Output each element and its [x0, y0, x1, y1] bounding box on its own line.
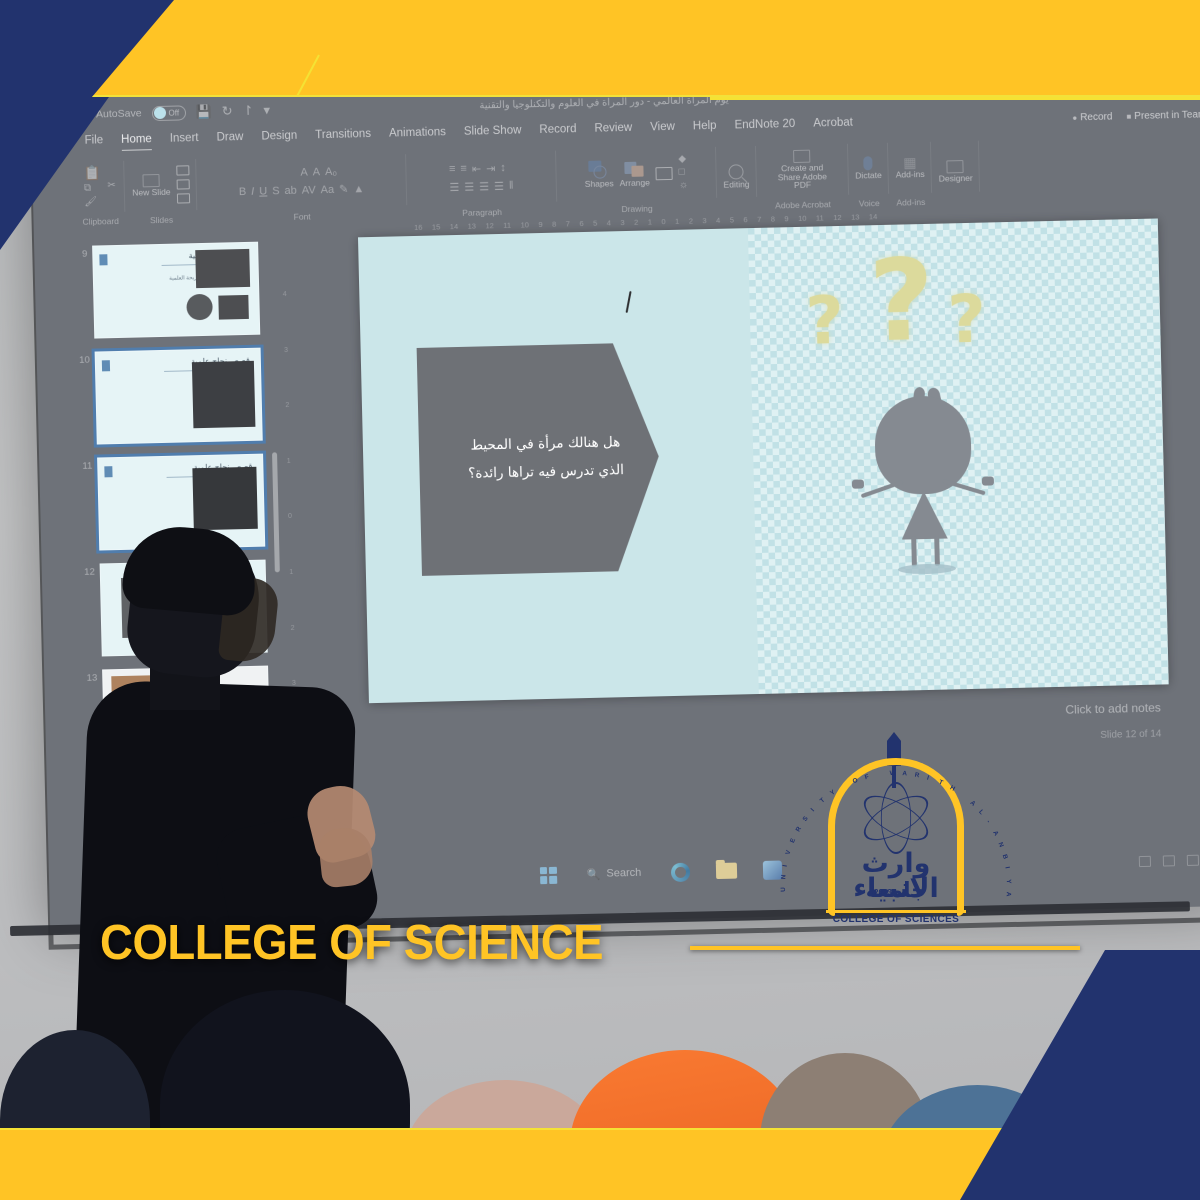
app-icon: [73, 108, 86, 121]
audience-row: [0, 970, 1200, 1200]
ruler-tick: 9: [538, 220, 542, 229]
clear-formatting-icon[interactable]: A₀: [325, 166, 337, 178]
audience-head: [160, 990, 410, 1200]
section-icon[interactable]: [177, 193, 190, 203]
tab-insert[interactable]: Insert: [161, 130, 208, 147]
group-label-adobe-acrobat: Adobe Acrobat: [775, 199, 831, 210]
shapes-label: Shapes: [585, 179, 614, 189]
tray-icon: [1163, 855, 1175, 866]
file-explorer-icon[interactable]: [716, 863, 737, 879]
thumbnail-image: [195, 249, 250, 288]
align-left-icon[interactable]: ☰: [449, 180, 459, 193]
new-slide-button[interactable]: New Slide: [132, 173, 171, 197]
start-icon[interactable]: [540, 866, 557, 883]
group-label-font: Font: [294, 211, 311, 221]
text-shadow-icon[interactable]: S: [272, 185, 280, 197]
undo-icon[interactable]: ↻: [222, 103, 233, 119]
ruler-tick: 15: [432, 222, 441, 231]
text-highlight-color-icon[interactable]: ✎: [339, 183, 349, 196]
ribbon-group-add-ins: ▦ Add-ins Add-ins: [888, 136, 933, 210]
ruler-tick: 16: [414, 223, 423, 232]
audience-head: [1040, 1055, 1200, 1200]
ruler-tick: 1: [675, 217, 679, 226]
adobe-pdf-icon: [793, 149, 810, 162]
ribbon-group-clipboard: 📋 ⧉ 🖌 ✂ Clipboard: [74, 155, 126, 229]
thumbnail-graphic: [186, 294, 213, 321]
ruler-tick: 14: [869, 212, 878, 221]
tab-draw[interactable]: Draw: [207, 129, 252, 146]
shape-fill-icon[interactable]: ◆: [678, 155, 687, 165]
arrange-label: Arrange: [620, 178, 650, 188]
paste-icon[interactable]: 📋: [84, 165, 102, 179]
format-painter-icon[interactable]: 🖌: [84, 197, 102, 207]
thumbnail-accent-bar: [104, 466, 112, 477]
designer-label: Designer: [939, 173, 973, 183]
confused-person-silhouette-icon: [841, 384, 1005, 574]
autosave-label: AutoSave: [96, 107, 142, 120]
add-ins-button[interactable]: ▦ Add-ins: [895, 155, 924, 180]
autosave-state: Off: [168, 108, 179, 117]
new-slide-label: New Slide: [132, 187, 170, 197]
ribbon-group-designer: Designer: [931, 135, 981, 209]
tab-animations[interactable]: Animations: [380, 124, 455, 142]
group-label-add-ins: Add-ins: [896, 197, 925, 208]
question-mark-right: ?: [947, 281, 987, 359]
search-icon: 🔍: [587, 867, 601, 880]
tray-icon: [1139, 855, 1151, 866]
font-size-increase-icon[interactable]: A: [300, 166, 308, 178]
ruler-tick: 13: [468, 222, 477, 231]
silhouette-arm-left: [860, 480, 903, 498]
save-status-chevron-icon[interactable]: ▾: [1026, 84, 1033, 100]
ruler-tick: 5: [730, 215, 734, 224]
ribbon-group-editing: Editing: [715, 140, 757, 214]
add-ins-label: Add-ins: [896, 170, 925, 180]
tab-endnote[interactable]: EndNote 20: [725, 116, 804, 134]
ruler-tick: 12: [833, 213, 842, 222]
question-mark-left: ?: [805, 282, 845, 360]
question-shape[interactable]: هل هنالك مرأة في المحيط الذي تدرس فيه تر…: [416, 342, 661, 576]
change-case-icon[interactable]: Aa: [320, 183, 334, 195]
redo-icon[interactable]: ↾: [242, 103, 253, 119]
teams-icon: ■: [1126, 112, 1131, 121]
thumbnail-row[interactable]: 10 قصص نجاح علمية نص فرعي تجريبي نص إضاف…: [77, 347, 275, 445]
thumbnail-number: 9: [74, 246, 89, 339]
reset-icon[interactable]: [176, 179, 189, 189]
arrange-icon: [624, 160, 644, 178]
thumbnail-image: [192, 361, 256, 428]
ruler-tick: 7: [566, 219, 570, 228]
copy-icon[interactable]: ⧉: [84, 183, 102, 193]
autosave-toggle[interactable]: Off: [151, 105, 185, 121]
status-bar: Slide 12 of 14: [370, 729, 1162, 759]
group-label-clipboard: Clipboard: [82, 216, 119, 227]
ruler-tick: 10: [520, 220, 529, 229]
tab-file[interactable]: File: [75, 132, 112, 149]
thumbnail-number: 10: [77, 352, 92, 445]
store-icon[interactable]: [763, 860, 782, 879]
question-mark-large: ?: [868, 236, 936, 367]
editing-button[interactable]: Editing: [723, 164, 750, 190]
room-photograph: AutoSave Off 💾 ↻ ↾ ▾ يوم المرأة العالمي …: [0, 0, 1200, 1200]
silhouette-hand-left: [851, 479, 863, 488]
tab-transitions[interactable]: Transitions: [306, 126, 380, 144]
columns-icon[interactable]: ‖: [509, 180, 514, 192]
ruler-tick: 8: [552, 220, 556, 229]
question-marks-graphic: ? ? ?: [798, 239, 1041, 395]
tab-design[interactable]: Design: [252, 128, 306, 145]
thumbnail-row[interactable]: 9 قصص نجاح علمية نص فرعي تجريبي للشريحة …: [74, 241, 272, 339]
ribbon-group-slides: New Slide Slides: [124, 153, 197, 228]
new-slide-icon: [142, 174, 159, 187]
slide-thumbnail[interactable]: قصص نجاح علمية نص فرعي تجريبي نص إضافي ل…: [95, 348, 263, 445]
autosave-toggle-knob: [153, 107, 165, 119]
justify-icon[interactable]: ☰: [494, 179, 504, 192]
shapes-icon: [589, 160, 609, 178]
microphone-icon: [864, 156, 873, 170]
layout-icon[interactable]: [176, 165, 189, 175]
group-label-paragraph: Paragraph: [462, 207, 502, 218]
thumbnail-image: [192, 467, 257, 530]
line-spacing-icon[interactable]: ↕: [500, 162, 506, 174]
ribbon-group-paragraph: ≡ ≡ ⇤ ⇥ ↕ ☰ ☰ ☰ ☰ ‖: [406, 145, 558, 222]
save-status: Saved to this PC: [938, 87, 1016, 101]
silhouette-body: [901, 491, 948, 540]
character-spacing-icon[interactable]: AV: [302, 184, 316, 196]
ruler-tick: 2: [689, 216, 693, 225]
thumbnail-accent-bar: [99, 254, 107, 265]
customize-quick-access-icon[interactable]: ▾: [263, 102, 270, 118]
dictate-label: Dictate: [855, 171, 882, 181]
current-slide[interactable]: هل هنالك مرأة في المحيط الذي تدرس فيه تر…: [357, 218, 1168, 703]
tab-review[interactable]: Review: [585, 120, 641, 137]
silhouette-leg-left: [911, 536, 917, 566]
strikethrough-icon[interactable]: ab: [284, 184, 297, 196]
cut-icon[interactable]: ✂: [107, 181, 116, 191]
designer-icon: [947, 160, 964, 173]
search-editing-icon: [729, 164, 744, 179]
italic-icon[interactable]: I: [251, 185, 254, 197]
record-button[interactable]: ●Record: [1072, 111, 1112, 123]
shape-effects-icon[interactable]: ☼: [679, 181, 688, 191]
tab-home[interactable]: Home: [112, 131, 161, 148]
silhouette-head: [873, 395, 971, 495]
present-in-teams-label: Present in Teams: [1134, 109, 1200, 122]
ribbon-group-voice: Dictate Voice: [847, 137, 889, 211]
tray-icon: [1187, 854, 1199, 865]
taskbar-search[interactable]: 🔍 Search: [587, 866, 642, 880]
quick-styles-icon[interactable]: [656, 166, 673, 179]
tab-record[interactable]: Record: [530, 121, 585, 138]
present-in-teams-button[interactable]: ■Present in Teams: [1126, 109, 1200, 122]
ribbon-group-drawing: Shapes Arrange ◆ □ ☼: [556, 141, 718, 218]
ruler-tick: 10: [798, 214, 807, 223]
ruler-tick: 9: [784, 214, 788, 223]
taskbar-system-tray[interactable]: [1139, 854, 1200, 867]
align-right-icon[interactable]: ☰: [479, 180, 489, 193]
ruler-tick: 5: [593, 219, 597, 228]
edge-icon[interactable]: [671, 862, 690, 881]
ruler-tick: 3: [620, 218, 624, 227]
ruler-tick: 11: [503, 221, 511, 230]
font-color-icon[interactable]: ▲: [353, 183, 364, 195]
shapes-button[interactable]: Shapes: [584, 160, 613, 189]
ruler-tick: 4: [607, 218, 611, 227]
notes-placeholder: Click to add notes: [1065, 701, 1161, 717]
ruler-tick: 14: [450, 222, 459, 231]
presenter-hair: [121, 522, 260, 617]
ribbon-group-adobe-acrobat: Create and Share Adobe PDF Adobe Acrobat: [755, 138, 849, 213]
arrange-button[interactable]: Arrange: [619, 159, 650, 188]
ribbon-group-font: A A A₀ B I U S ab AV Aa: [196, 148, 408, 226]
silhouette-hand-right: [981, 476, 993, 485]
group-label-slides: Slides: [150, 215, 173, 226]
record-button-label: Record: [1080, 111, 1113, 123]
underline-icon[interactable]: U: [259, 185, 267, 197]
dictate-button[interactable]: Dictate: [855, 156, 882, 181]
create-share-pdf-label: Create and Share Adobe PDF: [771, 163, 834, 191]
bold-icon[interactable]: B: [239, 185, 247, 197]
numbering-icon[interactable]: ≡: [460, 163, 467, 175]
thumbnail-image-2: [218, 295, 249, 320]
record-dot-icon: ●: [1072, 113, 1077, 122]
ruler-tick: 8: [771, 214, 775, 223]
save-icon[interactable]: 💾: [195, 104, 212, 120]
silhouette-leg-right: [934, 536, 940, 566]
ruler-tick: 4: [716, 216, 720, 225]
create-share-pdf-button[interactable]: Create and Share Adobe PDF: [771, 149, 834, 191]
bullets-icon[interactable]: ≡: [449, 163, 456, 175]
decrease-indent-icon[interactable]: ⇤: [472, 162, 482, 175]
ruler-tick: 3: [702, 216, 706, 225]
ruler-tick: 12: [485, 221, 494, 230]
shape-outline-icon[interactable]: □: [679, 168, 688, 178]
add-ins-icon: ▦: [903, 155, 917, 169]
group-label-voice: Voice: [859, 198, 880, 208]
ruler-tick: 7: [757, 215, 761, 224]
ruler-tick: 0: [661, 217, 665, 226]
group-label-drawing: Drawing: [621, 203, 652, 214]
ruler-tick: 6: [743, 215, 747, 224]
ruler-tick: 11: [816, 213, 824, 222]
ruler-tick: 1: [648, 217, 652, 226]
slide-canvas-area: هل هنالك مرأة في المحيط الذي تدرس فيه تر…: [297, 215, 1200, 797]
slide-photo-composite: AutoSave Off 💾 ↻ ↾ ▾ يوم المرأة العالمي …: [0, 0, 1200, 1200]
slide-thumbnail[interactable]: قصص نجاح علمية نص فرعي تجريبي للشريحة ال…: [92, 242, 260, 339]
tab-acrobat[interactable]: Acrobat: [804, 114, 862, 131]
ruler-tick: 2: [634, 218, 638, 227]
designer-button[interactable]: Designer: [938, 159, 973, 183]
ruler-tick: 13: [851, 213, 860, 222]
thumbnail-accent-bar: [102, 360, 110, 371]
tab-view[interactable]: View: [641, 119, 684, 136]
taskbar-search-placeholder: Search: [606, 867, 641, 880]
ruler-tick: 6: [579, 219, 583, 228]
question-text: هل هنالك مرأة في المحيط الذي تدرس فيه تر…: [418, 429, 659, 490]
increase-indent-icon[interactable]: ⇥: [486, 162, 496, 175]
font-size-decrease-icon[interactable]: A: [313, 166, 321, 178]
tab-slide-show[interactable]: Slide Show: [455, 122, 531, 140]
align-center-icon[interactable]: ☰: [464, 180, 474, 193]
slide-pen-mark: [625, 291, 631, 313]
taskbar-app-icons: [671, 860, 782, 882]
search-input[interactable]: Search: [1043, 80, 1200, 100]
audience-head: [0, 1030, 150, 1200]
tab-help[interactable]: Help: [684, 118, 726, 135]
